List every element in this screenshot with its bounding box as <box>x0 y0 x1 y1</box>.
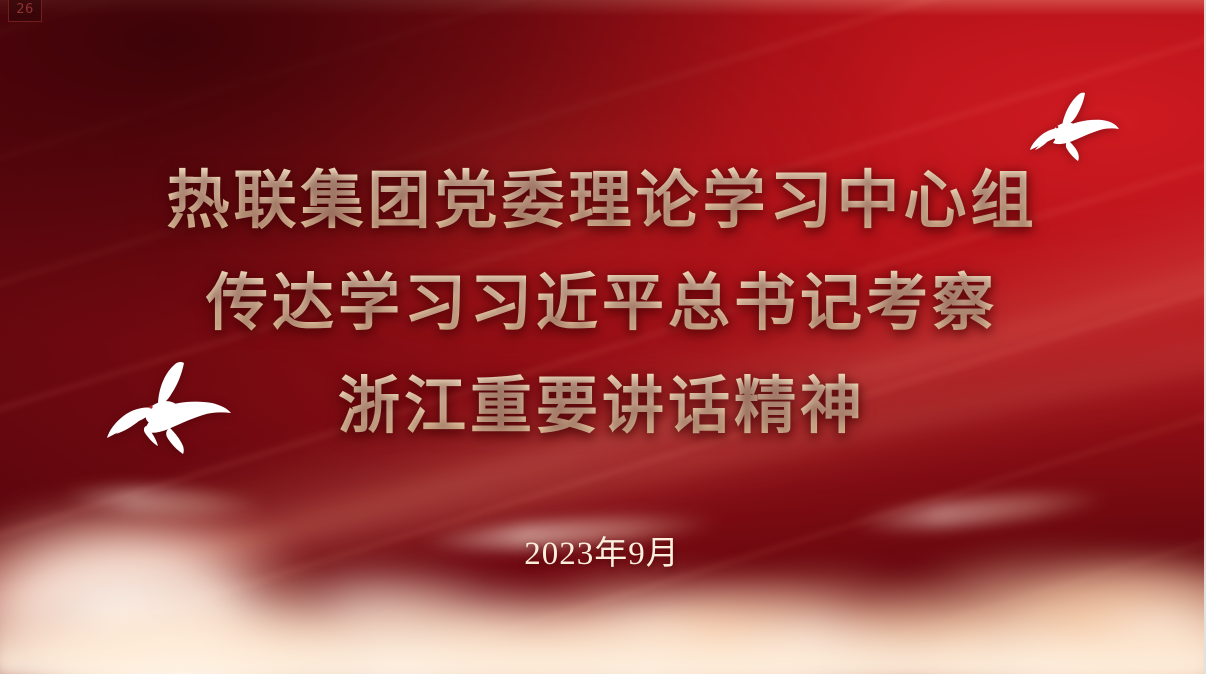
title-line-3: 浙江重要讲话精神 <box>26 356 1178 459</box>
title-line-2: 传达学习习近平总书记考察 <box>26 253 1178 356</box>
slide-title: 热联集团党委理论学习中心组 传达学习习近平总书记考察 浙江重要讲话精神 <box>0 150 1204 459</box>
title-line-1: 热联集团党委理论学习中心组 <box>26 150 1178 253</box>
corner-badge: 26 <box>8 0 42 22</box>
slide-date: 2023年9月 <box>0 526 1204 574</box>
presentation-slide: 热联集团党委理论学习中心组 传达学习习近平总书记考察 浙江重要讲话精神 2023… <box>0 0 1206 674</box>
